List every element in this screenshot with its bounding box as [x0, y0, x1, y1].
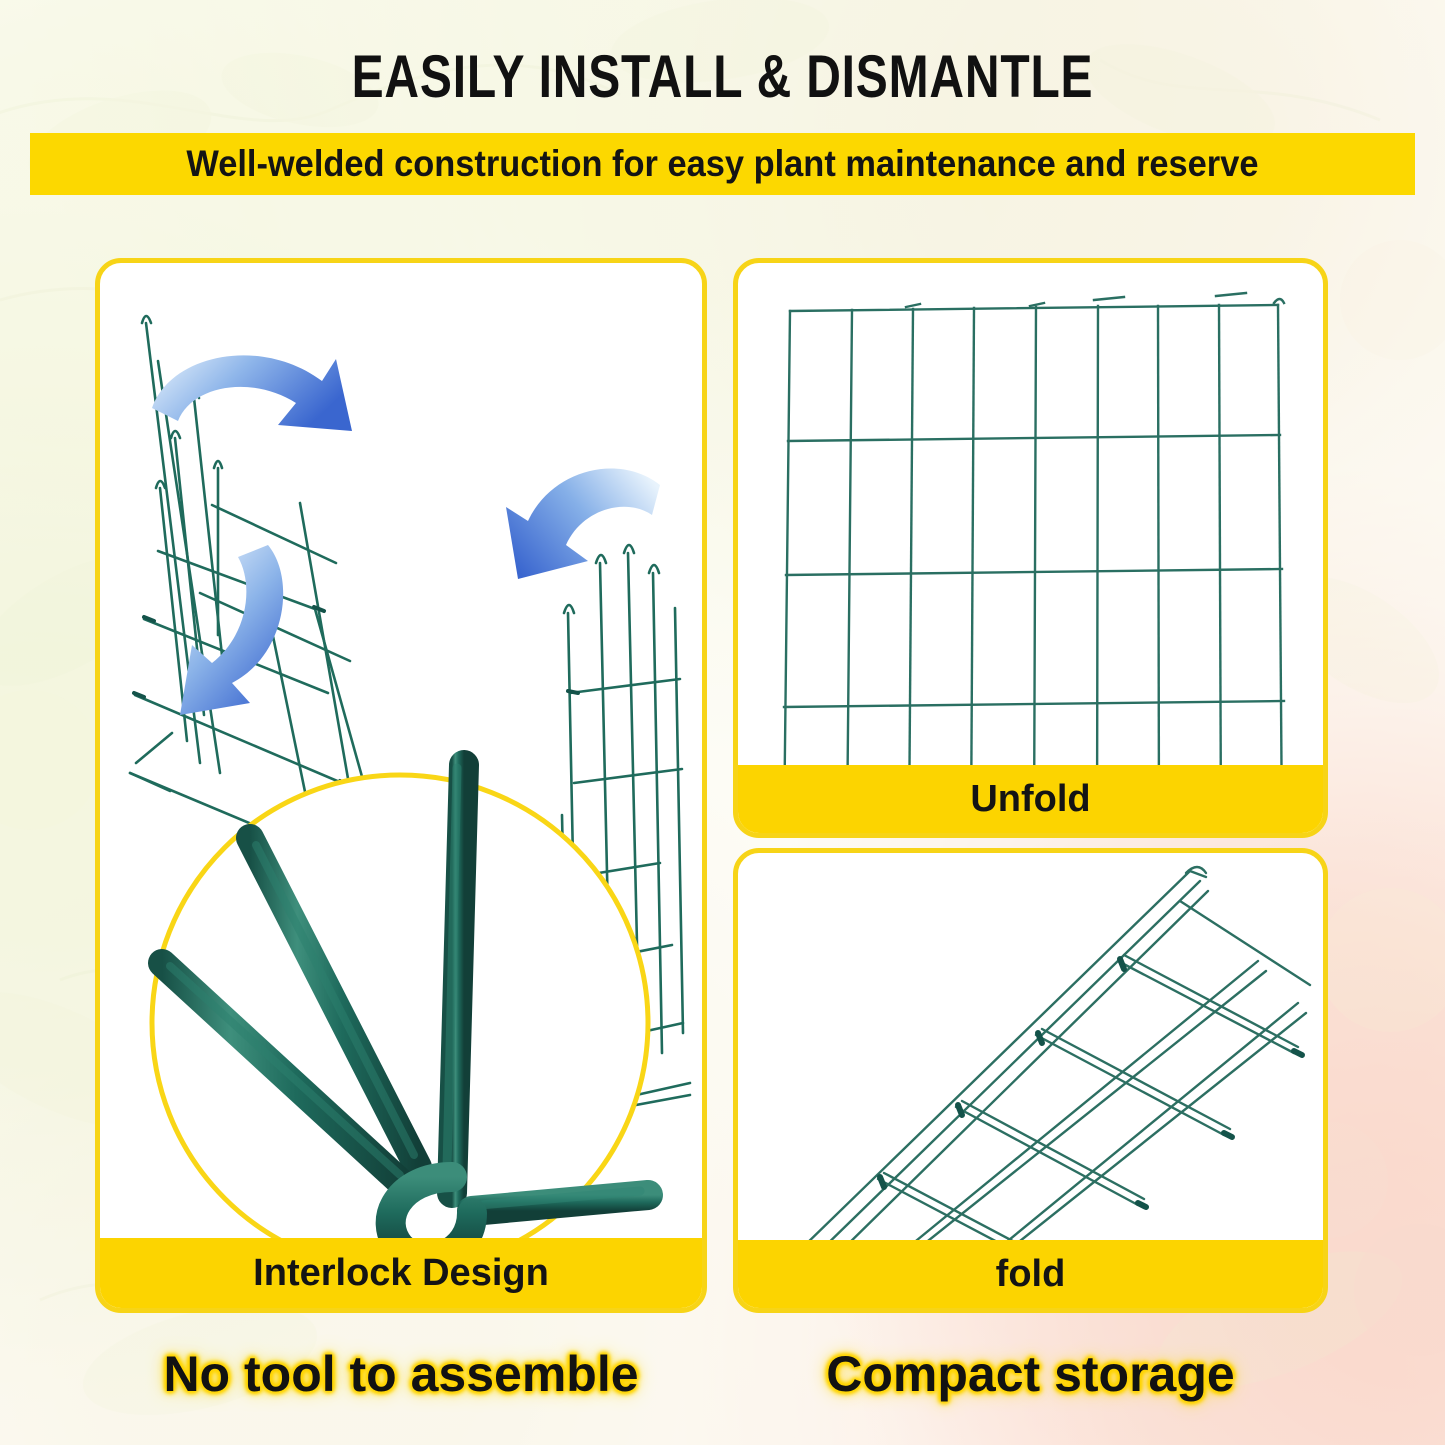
folding-assembly-illustration	[100, 263, 702, 1308]
subtitle-text: Well-welded construction for easy plant …	[186, 143, 1258, 185]
panel-unfold: Unfold	[733, 258, 1328, 838]
page-title: EASILY INSTALL & DISMANTLE	[145, 44, 1301, 110]
caption-no-tool-to-assemble: No tool to assemble	[95, 1345, 707, 1403]
arrow-icon-top-left	[152, 355, 352, 431]
unfolded-mesh-illustration	[738, 263, 1323, 833]
caption-compact-storage: Compact storage	[733, 1345, 1328, 1403]
caption-interlock-design: Interlock Design	[100, 1238, 702, 1308]
caption-text: Interlock Design	[253, 1252, 549, 1295]
caption-fold: fold	[738, 1240, 1323, 1308]
caption-text: Unfold	[970, 778, 1090, 821]
panel-fold: fold	[733, 848, 1328, 1313]
subtitle-banner: Well-welded construction for easy plant …	[30, 133, 1415, 195]
caption-text: fold	[996, 1253, 1066, 1296]
caption-unfold: Unfold	[738, 765, 1323, 833]
panel-interlock-design: Interlock Design	[95, 258, 707, 1313]
arrow-icon-top-right	[506, 469, 660, 579]
